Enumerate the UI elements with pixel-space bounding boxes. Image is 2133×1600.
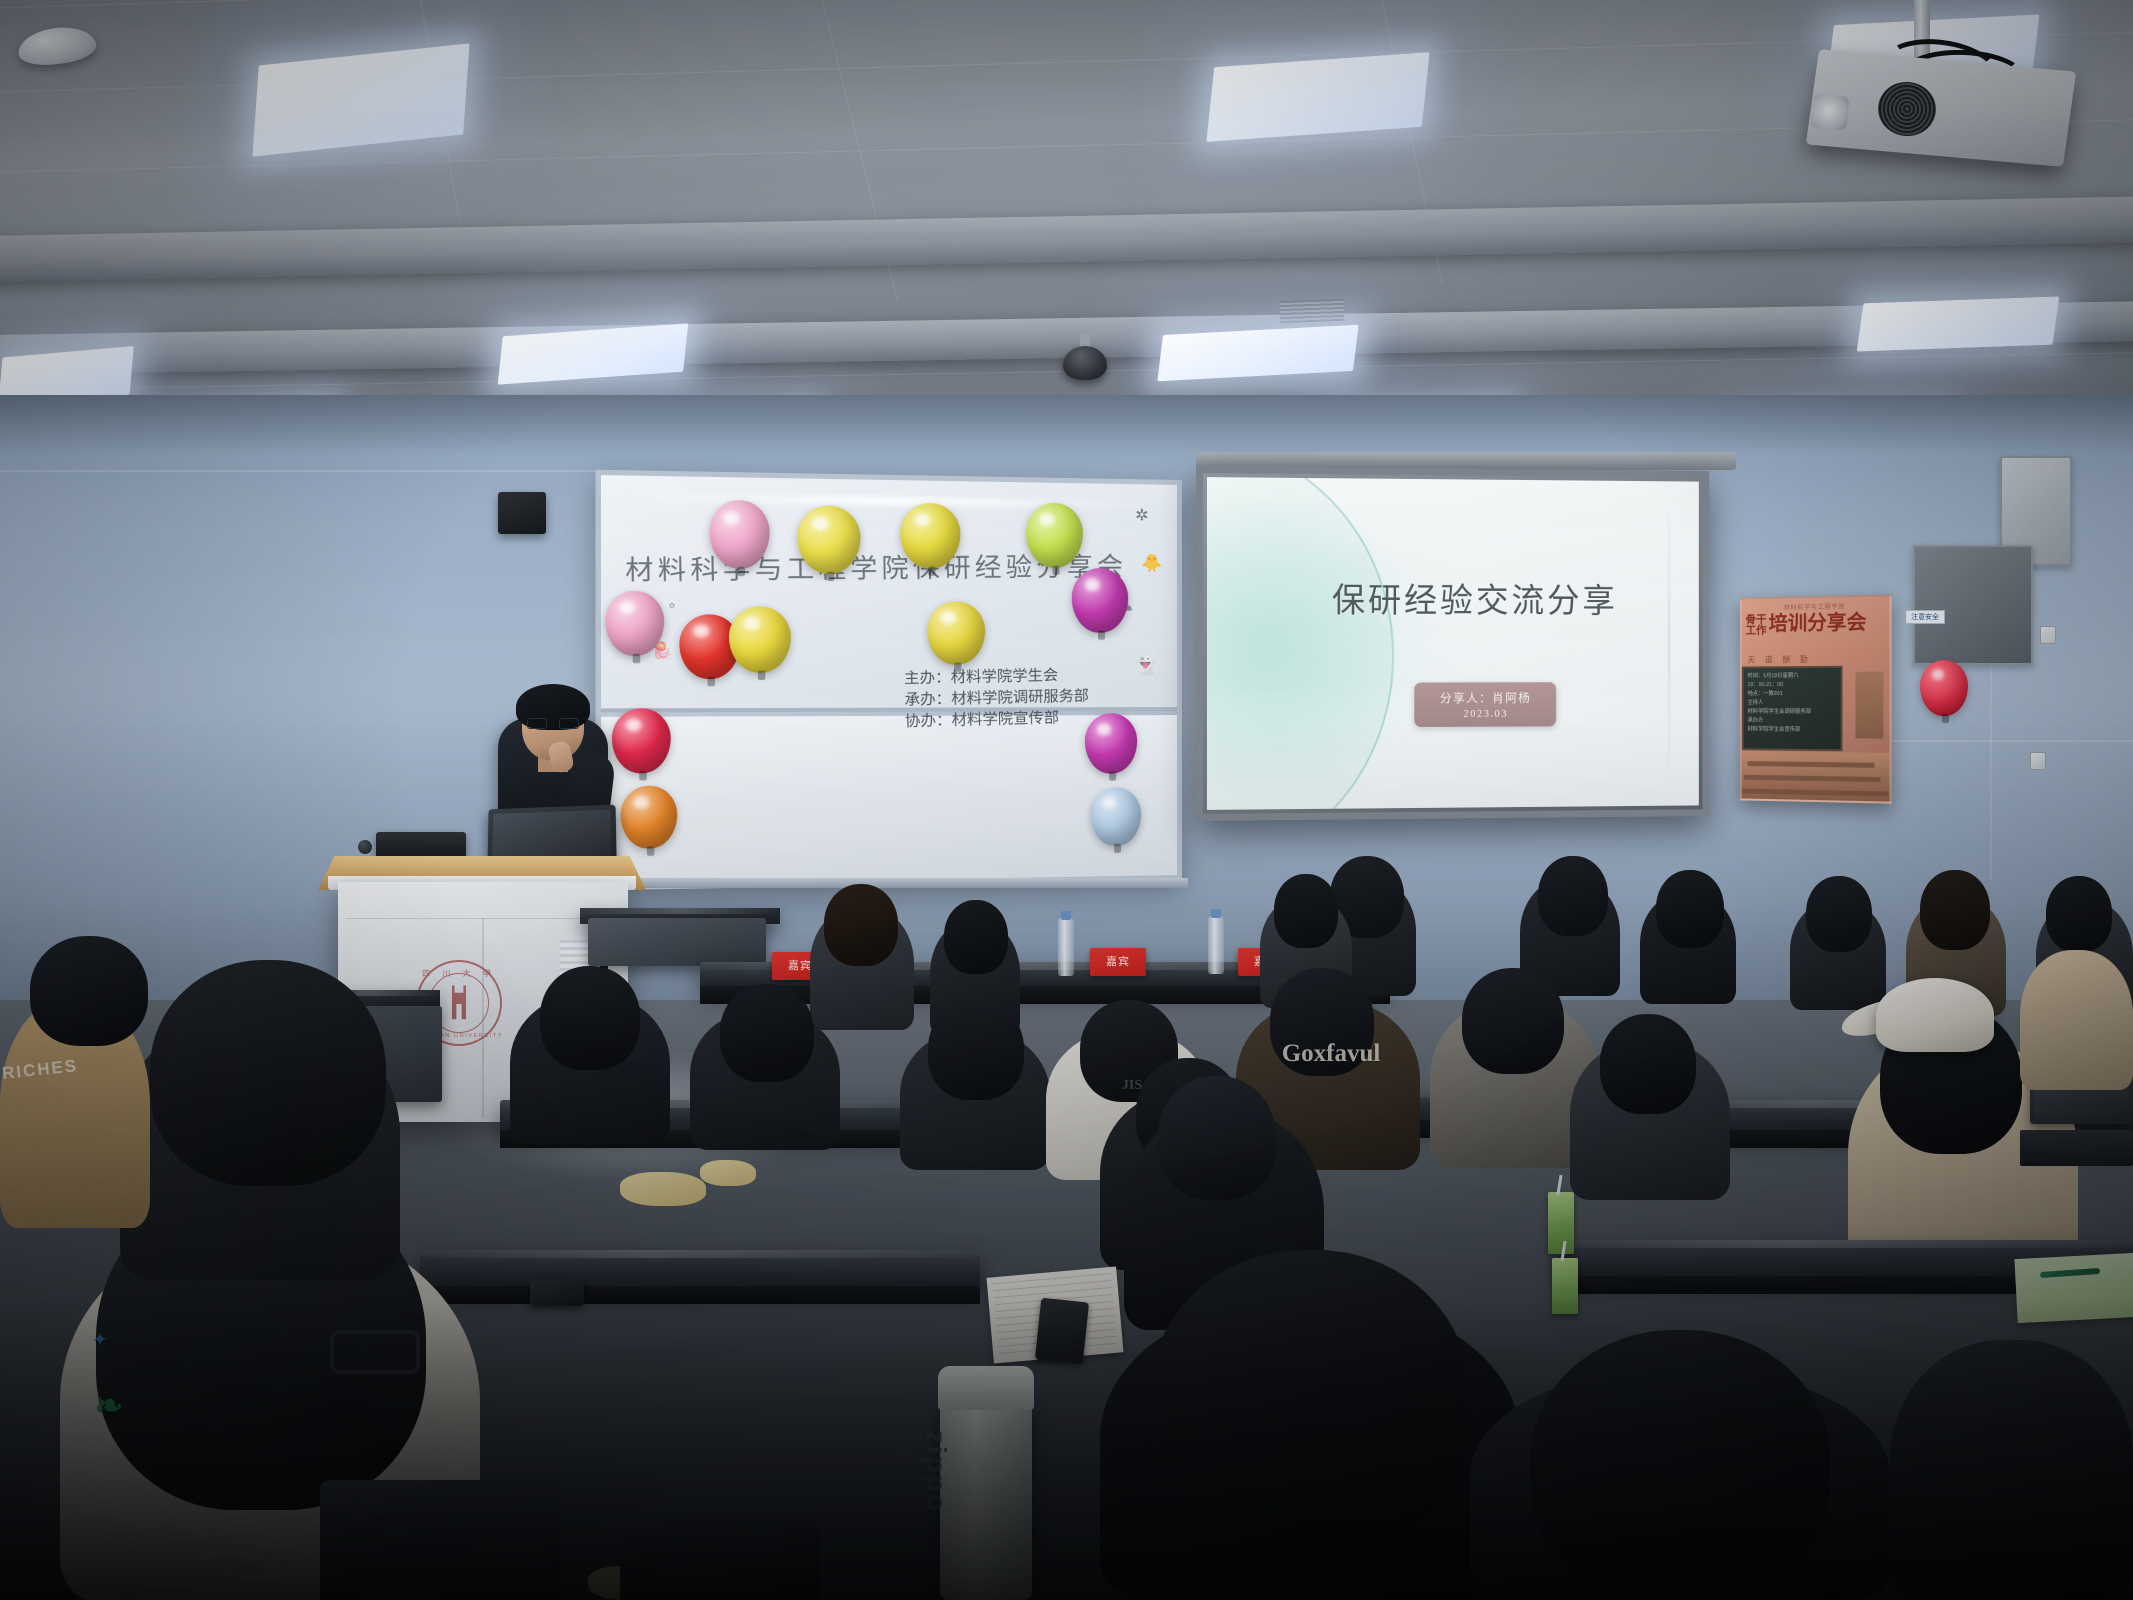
ceiling-camera-icon — [1063, 346, 1107, 380]
green-notebook — [2014, 1253, 2133, 1323]
audience-head — [2046, 876, 2112, 952]
butterfly-doodle: ✲ — [1135, 508, 1148, 524]
hoodie-graphic: ✦ — [40, 1330, 160, 1350]
presenter-glasses-icon — [527, 718, 579, 729]
water-bottle[interactable] — [1058, 918, 1074, 976]
balloon-yellow-4 — [927, 601, 985, 664]
slide-decorative-arc — [1207, 477, 1394, 810]
audience-head — [1806, 876, 1872, 952]
audience-head — [824, 884, 898, 966]
wall-outlet[interactable] — [2040, 626, 2056, 644]
water-bottle[interactable] — [1208, 916, 1224, 974]
equipment-box — [588, 918, 766, 966]
wall-seam — [1990, 640, 1992, 880]
podium-control-knob[interactable] — [358, 840, 372, 854]
balloon-magenta-1 — [1072, 568, 1128, 633]
ghost-doodle: 👻 — [1133, 655, 1158, 675]
audience-head — [1920, 870, 1990, 950]
wall-outlet[interactable] — [2030, 752, 2046, 770]
poster-desks-graphic — [1742, 751, 1890, 801]
poster-blackboard: 时间：5月18日星期六 19：00-21：00 地点：一教201 主持人 材料学… — [1742, 666, 1843, 752]
audience-head — [1600, 1014, 1696, 1114]
foreground-water-bottle[interactable] — [940, 1400, 1032, 1600]
balloon-pink-2 — [605, 591, 664, 656]
ceiling-light-2 — [1206, 52, 1429, 142]
poster-blackboard-text: 时间：5月18日星期六 19：00-21：00 地点：一教201 主持人 材料学… — [1747, 672, 1840, 735]
slide-edge-highlight — [1667, 488, 1670, 799]
wall-seam — [0, 470, 640, 472]
whiteboard-marker-tray — [593, 878, 1188, 889]
wall-seam — [1890, 740, 2133, 742]
smartphone[interactable] — [1035, 1298, 1089, 1365]
white-baseball-cap — [1876, 978, 1994, 1052]
classroom-scene: 注意安全 材料科学与工程学院保研经验分享会 主办：材料学院学生会 承办：材料学院… — [0, 0, 2133, 1600]
juice-carton[interactable] — [1548, 1192, 1574, 1254]
control-panel-box[interactable] — [1913, 545, 2033, 665]
balloon-yellow-3 — [729, 606, 791, 673]
chair-back — [620, 1520, 820, 1600]
audience-head — [1158, 1076, 1276, 1200]
laptop-keyboard[interactable] — [2020, 1130, 2133, 1166]
hoodie-graphic-text: Goxfavul — [1256, 1040, 1406, 1068]
audience-head — [1274, 874, 1338, 948]
eyeglasses-icon — [330, 1330, 420, 1374]
poster-title-left: 骨干工作 — [1746, 615, 1767, 637]
slide-title: 保研经验交流分享 — [1332, 573, 1618, 622]
bottle-brand-text: zippo — [920, 1430, 952, 1513]
foreground-head — [1150, 1250, 1470, 1550]
snack-wrapper — [620, 1172, 706, 1206]
audience-head — [540, 966, 640, 1070]
snack-wrapper — [700, 1160, 756, 1186]
audience-head — [720, 984, 814, 1082]
podium-microphone-base[interactable] — [376, 832, 466, 858]
student-desk — [420, 1250, 980, 1288]
balloon-yellow-2 — [900, 503, 960, 569]
audience-head — [1656, 870, 1724, 948]
poster-title-main: 培训分享会 — [1768, 612, 1866, 636]
slide-presenter-badge: 分享人：肖阿杨 2023.03 — [1415, 683, 1556, 728]
wall-speaker-icon — [498, 492, 546, 534]
bottle-cap[interactable] — [938, 1366, 1034, 1410]
projector-lens-icon — [1811, 93, 1850, 130]
slide-date-line: 2023.03 — [1440, 708, 1531, 720]
chair-back — [320, 1480, 560, 1600]
whiteboard-organizers: 主办：材料学院学生会 承办：材料学院调研服务部 协办：材料学院宣传部 — [904, 665, 1120, 734]
air-vent-icon — [1280, 299, 1345, 323]
poster-door-graphic — [1855, 672, 1883, 739]
audience-head — [944, 900, 1008, 974]
audience-head — [1538, 856, 1608, 936]
logo-chinese-text: 四 川 大 學 — [422, 968, 496, 979]
audience-head — [1462, 968, 1564, 1074]
foreground-head — [1530, 1330, 1830, 1600]
audience-person — [2020, 950, 2133, 1090]
smartphone[interactable] — [530, 1280, 584, 1306]
chick-doodle: 🐥 — [1141, 555, 1162, 572]
wall-top-shadow — [0, 395, 2133, 455]
ceiling-light-10 — [1857, 296, 2060, 351]
balloon-red-wall — [1920, 660, 1968, 716]
audience-head — [928, 1000, 1024, 1100]
guest-name-card: 嘉宾 — [1090, 948, 1146, 976]
balloon-pink-1 — [710, 500, 770, 569]
foreground-head-curly — [150, 960, 386, 1186]
poster-subline: 天 道 酬 勤 — [1747, 653, 1884, 665]
hoodie-graphic: ❧ — [54, 1386, 164, 1426]
wall-poster: 材料科学与工程学院 骨干工作培训分享会 天 道 酬 勤 时间：5月18日星期六 … — [1740, 594, 1892, 803]
poster-title: 骨干工作培训分享会 — [1746, 613, 1891, 637]
balloon-green-1 — [1026, 503, 1083, 568]
foreground-person — [1890, 1340, 2133, 1600]
slide-surface: 保研经验交流分享 分享人：肖阿杨 2023.03 — [1207, 477, 1699, 810]
projection-screen: 保研经验交流分享 分享人：肖阿杨 2023.03 — [1196, 466, 1709, 821]
whiteboard: 材料科学与工程学院保研经验分享会 主办：材料学院学生会 承办：材料学院调研服务部… — [595, 470, 1182, 891]
balloon-yellow-1 — [797, 505, 860, 574]
slide-presenter-line: 分享人：肖阿杨 — [1440, 690, 1531, 707]
foreground-head — [30, 936, 148, 1046]
safety-sign: 注意安全 — [1905, 610, 1945, 624]
juice-carton[interactable] — [1552, 1258, 1578, 1314]
logo-mark-icon — [448, 985, 470, 1019]
